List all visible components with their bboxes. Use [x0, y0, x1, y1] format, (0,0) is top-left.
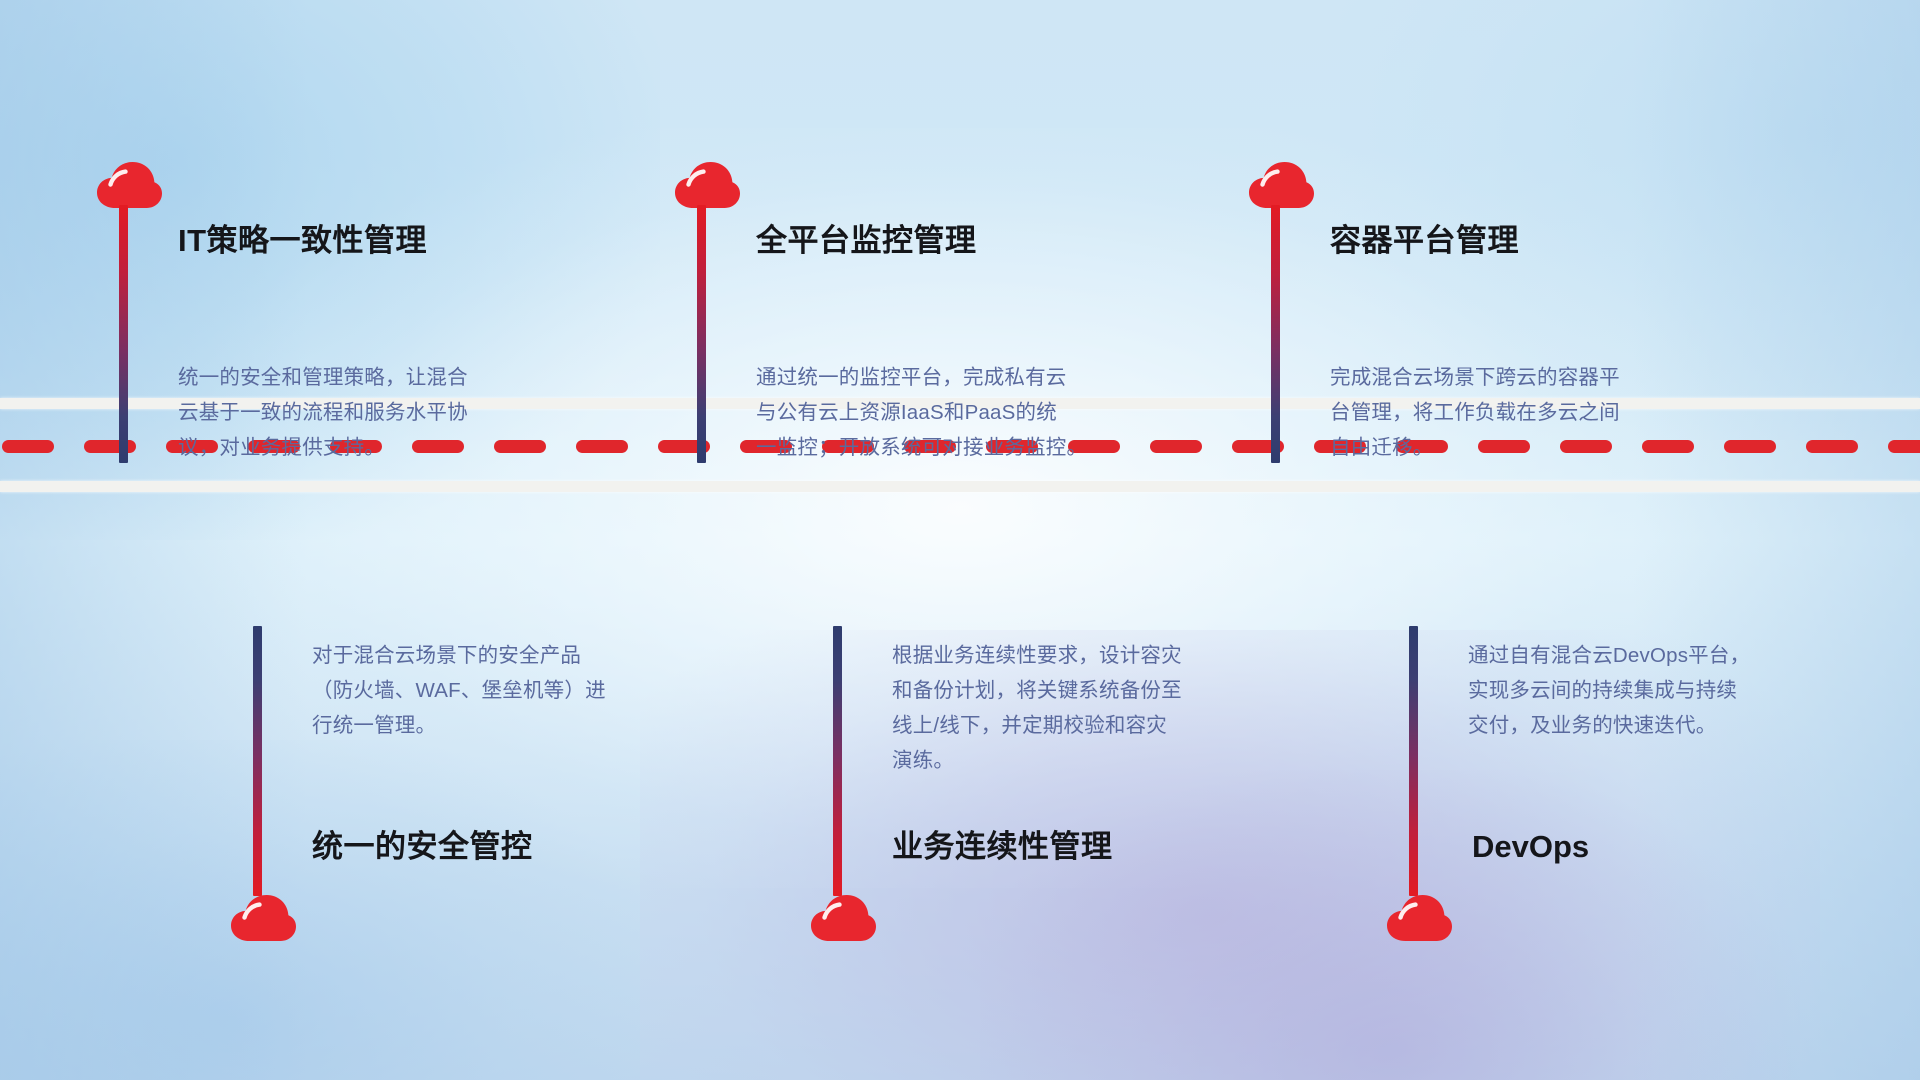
infographic-canvas: IT策略一致性管理 统一的安全和管理策略，让混合 云基于一致的流程和服务水平协 …	[0, 0, 1920, 1080]
feature-description: 通过统一的监控平台，完成私有云 与公有云上资源IaaS和PaaS的统 一监控；开…	[756, 360, 1206, 465]
feature-title: 全平台监控管理	[756, 222, 977, 259]
road-dash	[84, 440, 136, 453]
feature-title: 容器平台管理	[1330, 222, 1519, 259]
feature-title: 业务连续性管理	[892, 828, 1113, 865]
cloud-icon	[229, 893, 297, 943]
connector-stem	[253, 626, 262, 896]
connector-stem	[119, 205, 128, 463]
road-dash	[1888, 440, 1920, 453]
cloud-icon	[673, 160, 741, 210]
cloud-icon	[1247, 160, 1315, 210]
feature-description: 通过自有混合云DevOps平台， 实现多云间的持续集成与持续 交付，及业务的快速…	[1468, 638, 1908, 743]
feature-description: 统一的安全和管理策略，让混合 云基于一致的流程和服务水平协 议，对业务提供支持。	[178, 360, 618, 465]
road-dash	[2, 440, 54, 453]
connector-stem	[833, 626, 842, 896]
feature-title: 统一的安全管控	[312, 828, 533, 865]
road-edge-bottom-stripe	[0, 481, 1920, 492]
feature-description: 对于混合云场景下的安全产品 （防火墙、WAF、堡垒机等）进 行统一管理。	[312, 638, 762, 743]
cloud-icon	[1385, 893, 1453, 943]
feature-title: IT策略一致性管理	[178, 222, 427, 259]
feature-description: 根据业务连续性要求，设计容灾 和备份计划，将关键系统备份至 线上/线下，并定期校…	[892, 638, 1342, 778]
connector-stem	[1271, 205, 1280, 463]
cloud-icon	[809, 893, 877, 943]
feature-title: DevOps	[1472, 828, 1589, 865]
feature-description: 完成混合云场景下跨云的容器平 台管理，将工作负载在多云之间 自由迁移。	[1330, 360, 1770, 465]
cloud-icon	[95, 160, 163, 210]
connector-stem	[697, 205, 706, 463]
road-dash	[1806, 440, 1858, 453]
connector-stem	[1409, 626, 1418, 896]
